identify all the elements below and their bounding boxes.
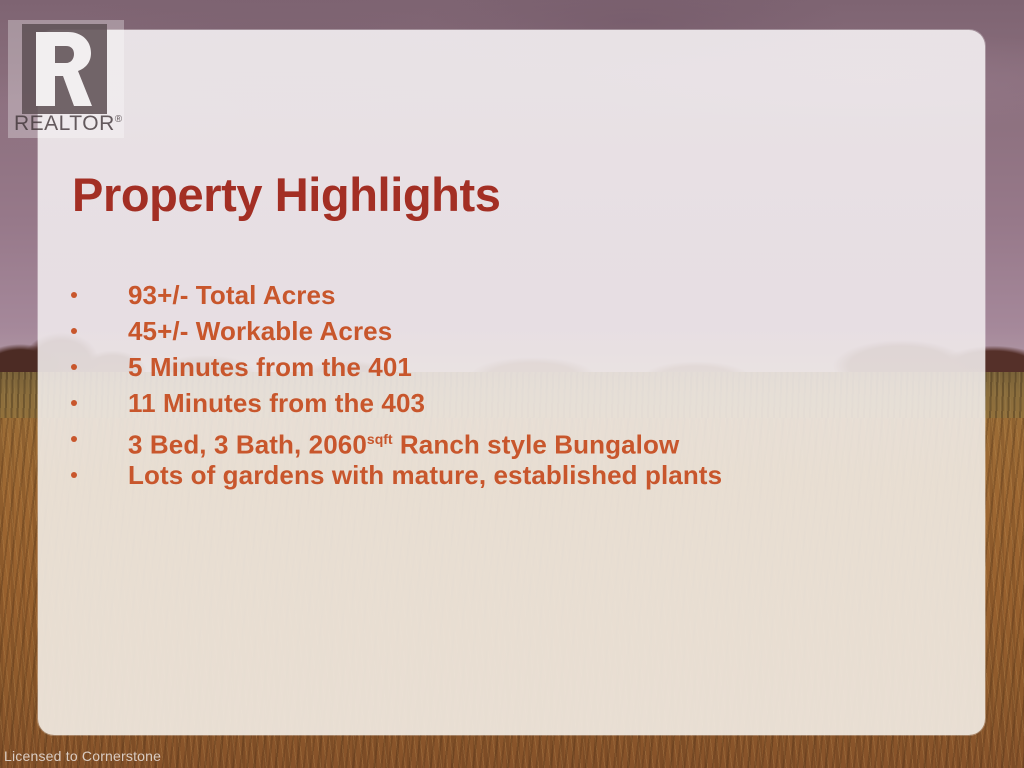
realtor-r-mark-icon: [22, 24, 107, 114]
realtor-logo: REALTOR®: [8, 20, 124, 138]
list-item: 11 Minutes from the 403: [62, 385, 922, 421]
list-item-label-main: 3 Bed, 3 Bath, 2060: [128, 430, 367, 460]
list-item: 5 Minutes from the 401: [62, 349, 922, 385]
realtor-wordmark: REALTOR®: [14, 112, 123, 136]
list-item-label: 5 Minutes from the 401: [128, 349, 412, 385]
bullet-dot-icon: [71, 436, 77, 442]
registered-trademark-icon: ®: [115, 114, 123, 125]
list-item: Lots of gardens with mature, established…: [62, 457, 922, 493]
list-item-label: Lots of gardens with mature, established…: [128, 457, 722, 493]
list-item: 45+/- Workable Acres: [62, 313, 922, 349]
bullet-dot-icon: [71, 472, 77, 478]
realtor-wordmark-text: REALTOR: [14, 112, 115, 135]
bullet-dot-icon: [71, 292, 77, 298]
page-title: Property Highlights: [72, 167, 500, 222]
bullet-dot-icon: [71, 364, 77, 370]
list-item-label: 11 Minutes from the 403: [128, 385, 425, 421]
property-highlights-list: 93+/- Total Acres 45+/- Workable Acres 5…: [62, 277, 922, 493]
presentation-slide: REALTOR® Property Highlights 93+/- Total…: [0, 0, 1024, 768]
superscript-unit: sqft: [367, 431, 393, 447]
list-item: 3 Bed, 3 Bath, 2060sqft Ranch style Bung…: [62, 421, 922, 457]
list-item-label-suffix: Ranch style Bungalow: [393, 430, 680, 460]
list-item-label: 45+/- Workable Acres: [128, 313, 392, 349]
bullet-dot-icon: [71, 400, 77, 406]
licensed-watermark: Licensed to Cornerstone: [4, 748, 161, 764]
list-item: 93+/- Total Acres: [62, 277, 922, 313]
bullet-dot-icon: [71, 328, 77, 334]
list-item-label: 93+/- Total Acres: [128, 277, 336, 313]
